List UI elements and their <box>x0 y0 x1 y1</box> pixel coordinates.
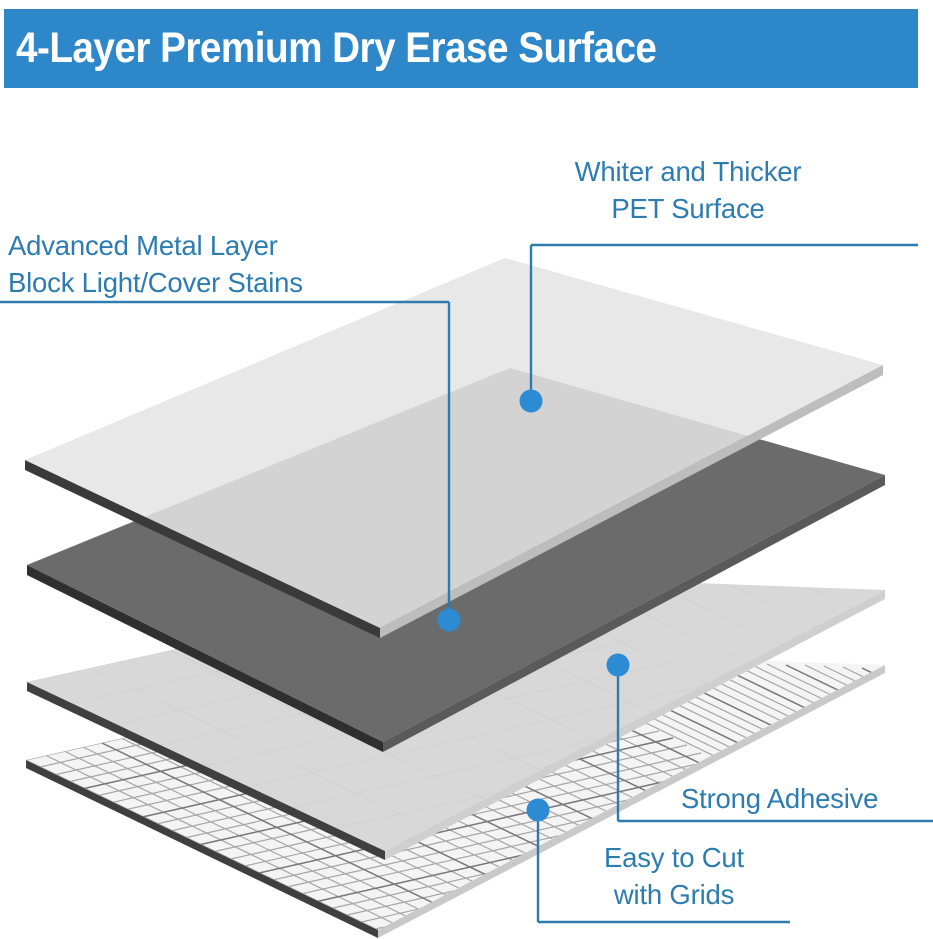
callout-metal-line1: Advanced Metal Layer <box>8 228 303 265</box>
callout-pet-line2: PET Surface <box>543 191 833 228</box>
callout-grid-line2: with Grids <box>586 877 762 914</box>
callout-metal-layer: Advanced Metal Layer Block Light/Cover S… <box>8 228 303 301</box>
callout-pet-surface: Whiter and Thicker PET Surface <box>543 154 833 227</box>
callout-strong-adhesive: Strong Adhesive <box>681 781 878 818</box>
callout-grid-line1: Easy to Cut <box>586 840 762 877</box>
callout-dot-grid[interactable] <box>527 799 550 822</box>
callout-adhesive-line1: Strong Adhesive <box>681 781 878 818</box>
callout-dot-metal[interactable] <box>438 609 461 632</box>
callout-dot-pet[interactable] <box>520 390 543 413</box>
callout-metal-line2: Block Light/Cover Stains <box>8 265 303 302</box>
callout-pet-line1: Whiter and Thicker <box>543 154 833 191</box>
callout-dot-adhesive[interactable] <box>607 654 630 677</box>
callout-easy-to-cut: Easy to Cut with Grids <box>586 840 762 913</box>
product-infographic: 4-Layer Premium Dry Erase Surface <box>0 0 933 939</box>
